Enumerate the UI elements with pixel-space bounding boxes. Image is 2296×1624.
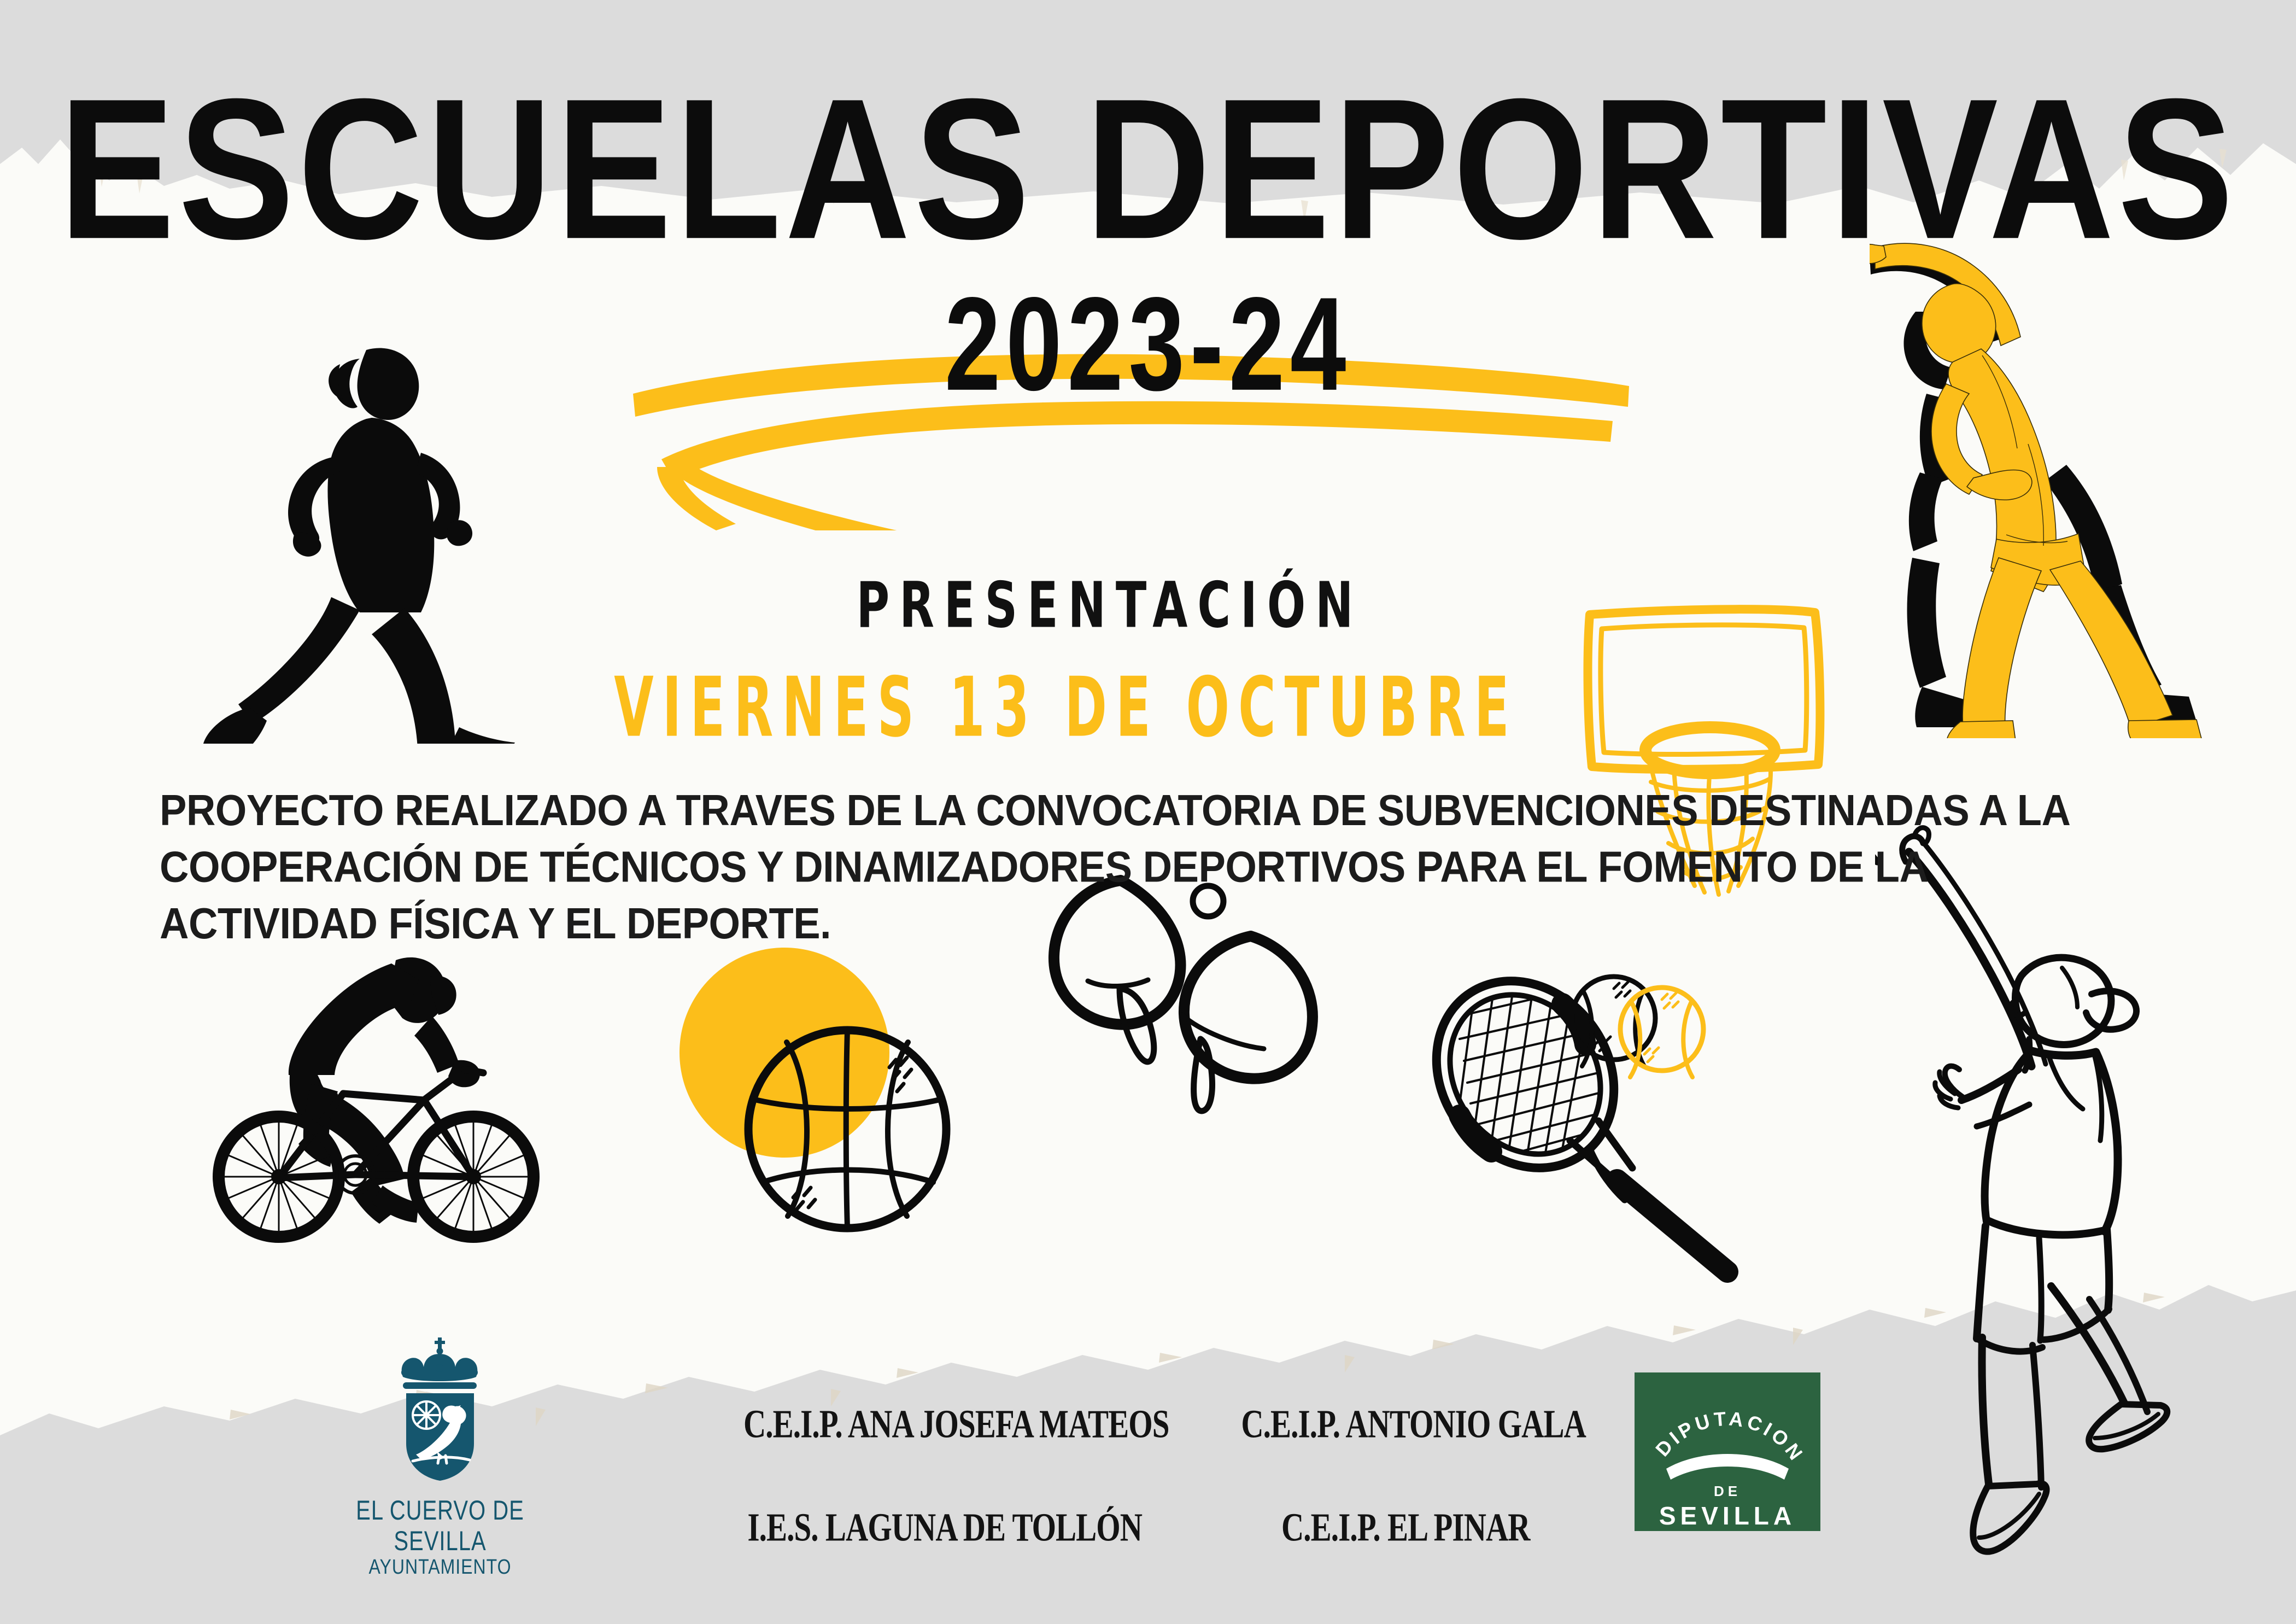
page-subtitle-year: 2023-24 [34,278,2262,411]
headline-block: ESCUELAS DEPORTIVAS 2023-24 [0,77,2296,382]
school-name: C.E.I.P. ANA JOSEFA MATEOS [743,1402,1169,1448]
ayuntamiento-subtitle: AYUNTAMIENTO [350,1555,530,1579]
school-name: C.E.I.P. EL PINAR [1206,1505,1586,1551]
body-paragraph: PROYECTO REALIZADO A TRAVES DE LA CONVOC… [160,782,2149,953]
presentation-label: PRESENTACIÓN [700,569,1520,642]
basketball-ball-icon [741,1023,954,1236]
diputacion-logo: DIPUTACION DE SEVILLA [1635,1372,1820,1531]
cyclist-silhouette [208,930,547,1247]
ayuntamiento-logo: EL CUERVO DE SEVILLA AYUNTAMIENTO [350,1334,530,1575]
schools-list: C.E.I.P. ANA JOSEFA MATEOS C.E.I.P. ANTO… [743,1405,1596,1547]
diputacion-line2: DE [1714,1483,1741,1499]
ayuntamiento-name: EL CUERVO DE SEVILLA [350,1496,530,1557]
page-title: ESCUELAS DEPORTIVAS [0,77,2296,261]
diputacion-logo-icon: DIPUTACION DE SEVILLA [1635,1372,1820,1531]
school-name: C.E.I.P. ANTONIO GALA [1206,1402,1586,1448]
school-name: I.E.S. LAGUNA DE TOLLÓN [743,1505,1169,1551]
el-cuervo-crest-icon [369,1334,511,1487]
poster-canvas: ESCUELAS DEPORTIVAS 2023-24 PRESENTACIÓN… [0,0,2296,1624]
diputacion-line3: SEVILLA [1659,1502,1796,1530]
tennis-racket-icon [1421,957,1782,1290]
event-date: VIERNES 13 DE OCTUBRE [547,659,1585,756]
